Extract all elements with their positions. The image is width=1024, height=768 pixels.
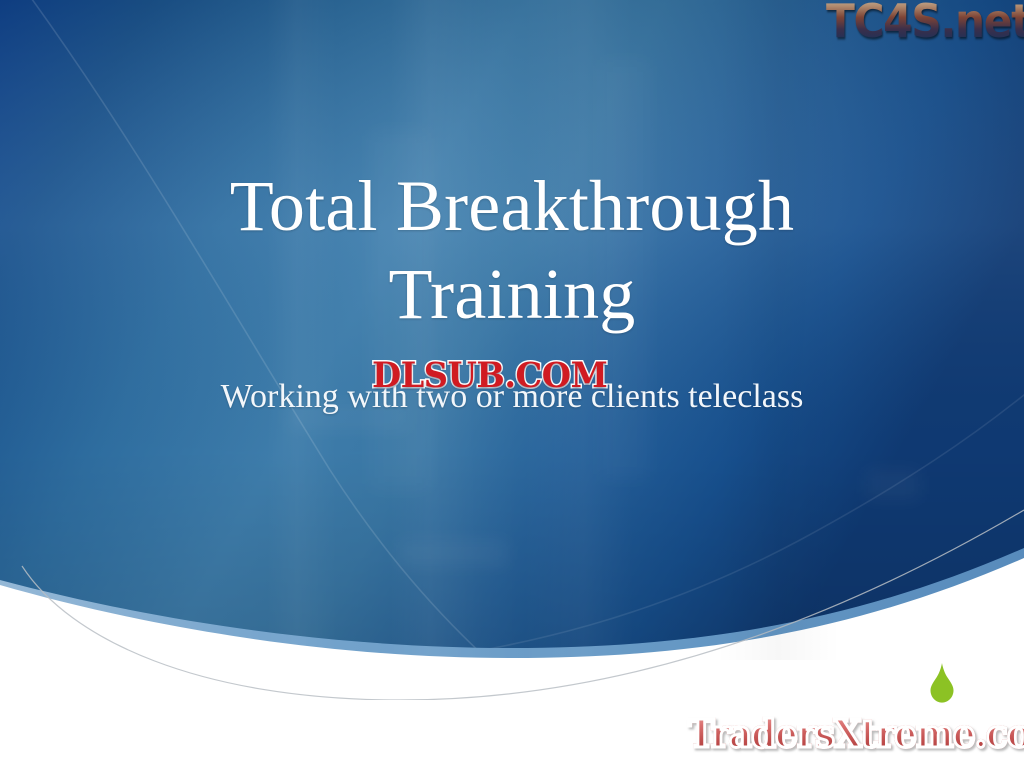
slide-background-shape <box>0 0 1024 700</box>
presentation-slide: Total Breakthrough Training Working with… <box>0 0 1024 768</box>
title-placeholder[interactable]: Total Breakthrough Training <box>0 162 1024 338</box>
watermark-tc4s: TC4S.net <box>826 0 1024 44</box>
green-droplet-icon <box>928 663 956 703</box>
watermark-dlsub: DLSUB.COM <box>372 357 607 395</box>
slide-title: Total Breakthrough Training <box>0 162 1024 338</box>
watermark-tradersxtreme: TradersXtreme.com <box>688 712 1024 756</box>
background-curve-svg <box>0 0 1024 700</box>
